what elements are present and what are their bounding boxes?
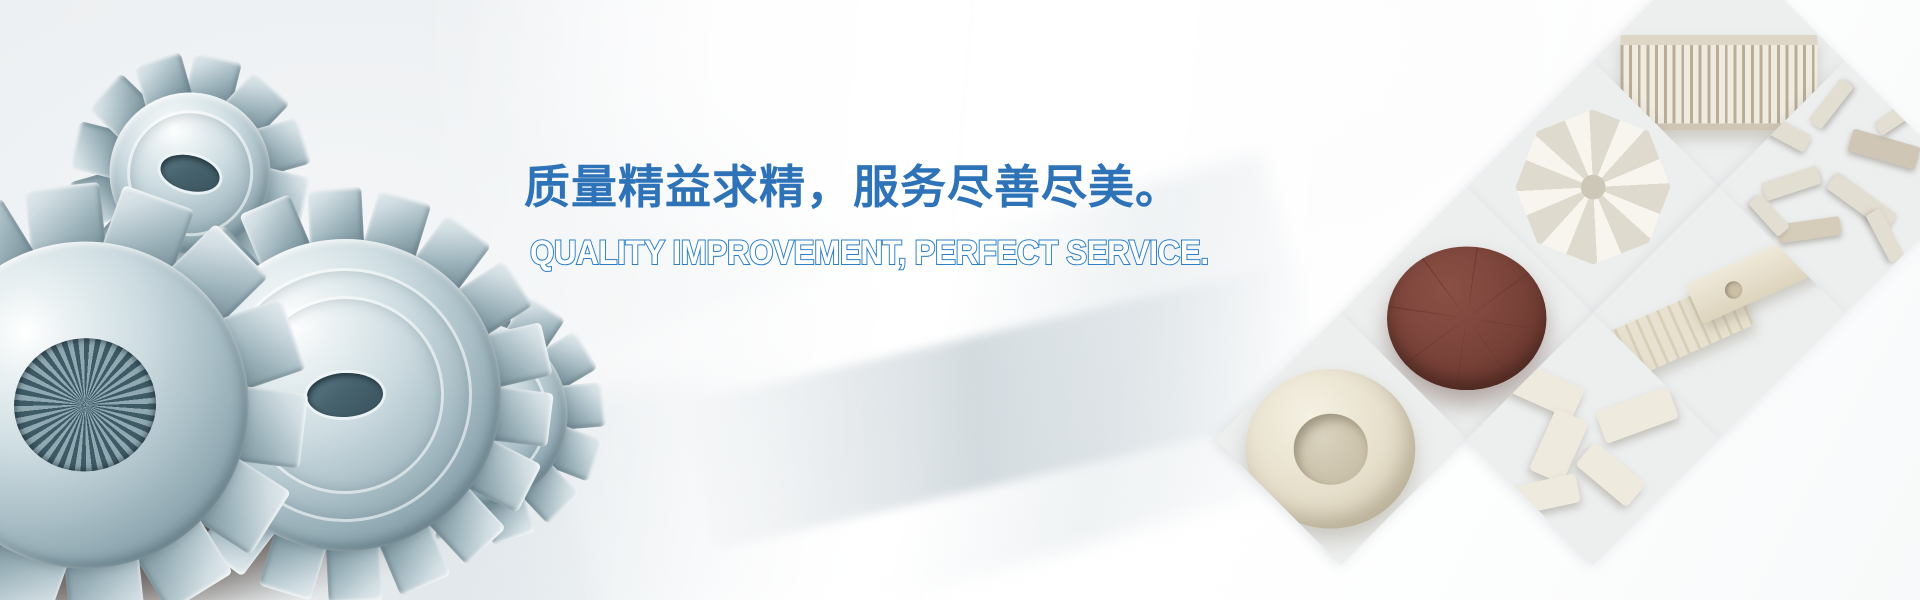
gear-cluster-illustration	[0, 40, 570, 600]
headline-chinese: 质量精益求精，服务尽善尽美。	[524, 160, 1224, 214]
product-photo-diamond-collage	[1318, 0, 1920, 600]
gear-large-front	[0, 169, 321, 600]
slogan-copy-block: 质量精益求精，服务尽善尽美。 QUALITY IMPROVEMENT, PERF…	[524, 160, 1224, 270]
light-streak-edge	[681, 260, 1338, 550]
headline-english: QUALITY IMPROVEMENT, PERFECT SERVICE.	[530, 236, 1168, 270]
quality-slogan-banner: 质量精益求精，服务尽善尽美。 QUALITY IMPROVEMENT, PERF…	[0, 0, 1920, 600]
